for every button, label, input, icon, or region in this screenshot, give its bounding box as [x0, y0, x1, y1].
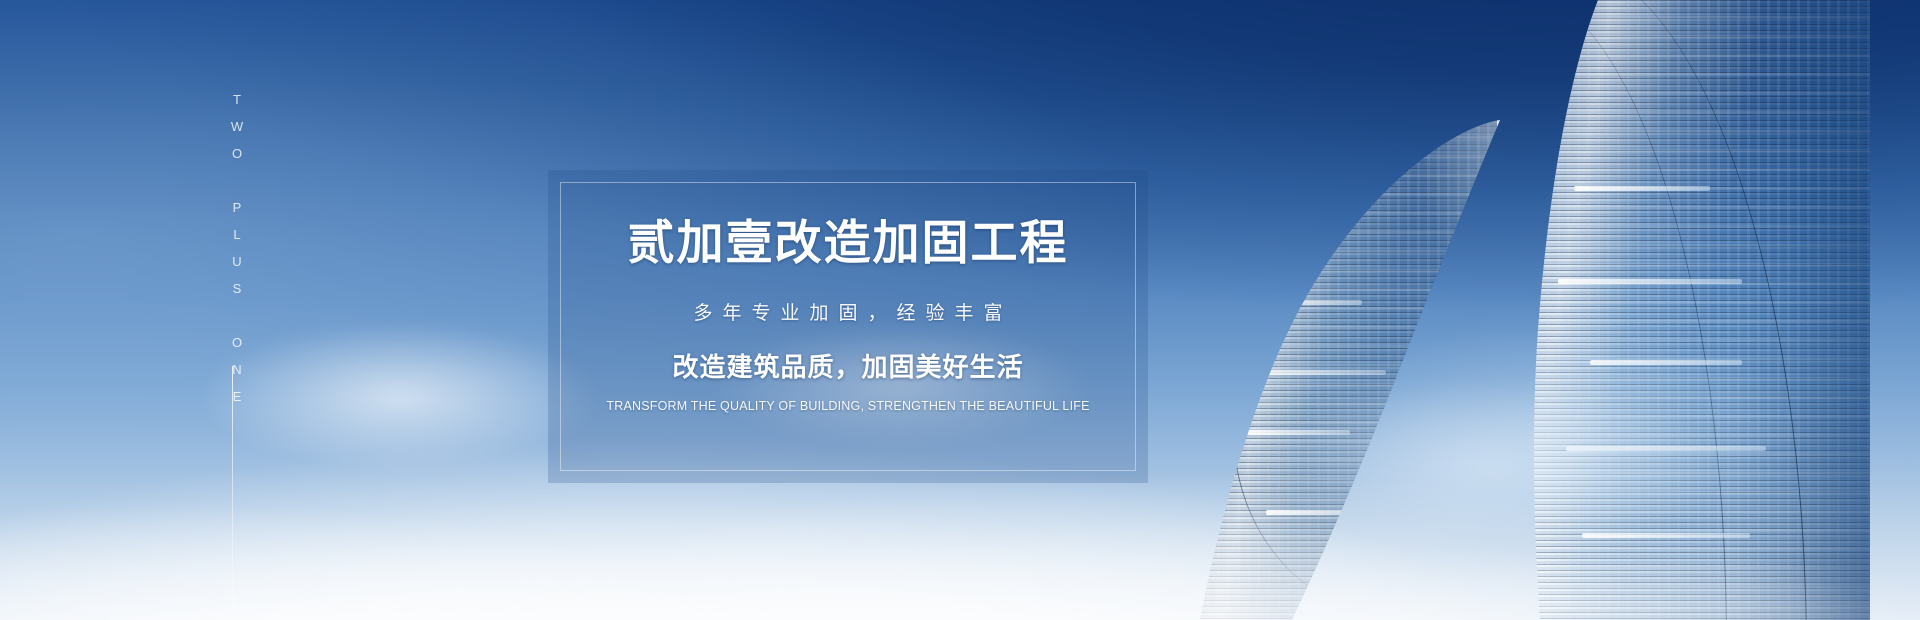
headline-panel: 贰加壹改造加固工程 多年专业加固，经验丰富 改造建筑品质，加固美好生活 TRAN… — [548, 170, 1148, 483]
tower-left-lit-row — [1248, 430, 1350, 435]
brand-vertical-wordmark: TWO PLUS ONE — [222, 92, 252, 416]
headline-subtitle: 多年专业加固，经验丰富 — [683, 298, 1012, 325]
tower-left-lit-row — [1266, 510, 1398, 515]
tower-right-lit-row — [1582, 533, 1750, 538]
tower-left-lit-row — [1242, 300, 1362, 305]
headline-title: 贰加壹改造加固工程 — [628, 218, 1069, 269]
skyscraper-photo — [1140, 0, 1920, 620]
headline-panel-border: 贰加壹改造加固工程 多年专业加固，经验丰富 改造建筑品质，加固美好生活 TRAN… — [560, 182, 1136, 471]
tower-right-edge — [1470, 0, 1473, 620]
tower-right-lit-row — [1590, 360, 1742, 365]
headline-english-caption: TRANSFORM THE QUALITY OF BUILDING, STREN… — [606, 399, 1089, 413]
tower-right-building — [1470, 0, 1870, 620]
tower-left-lit-row — [1230, 370, 1386, 375]
tower-left-edge — [1497, 120, 1500, 620]
brand-vertical-rule — [232, 366, 233, 620]
tower-right-lit-row — [1558, 279, 1742, 284]
hero-banner: TWO PLUS ONE 贰加壹改造加固工程 多年专业加固，经验丰富 改造建筑品… — [0, 0, 1920, 620]
tower-left-building — [1200, 120, 1500, 620]
tower-right-lit-row — [1566, 446, 1766, 451]
headline-slogan: 改造建筑品质，加固美好生活 — [672, 347, 1023, 384]
tower-right-lit-row — [1574, 186, 1710, 191]
